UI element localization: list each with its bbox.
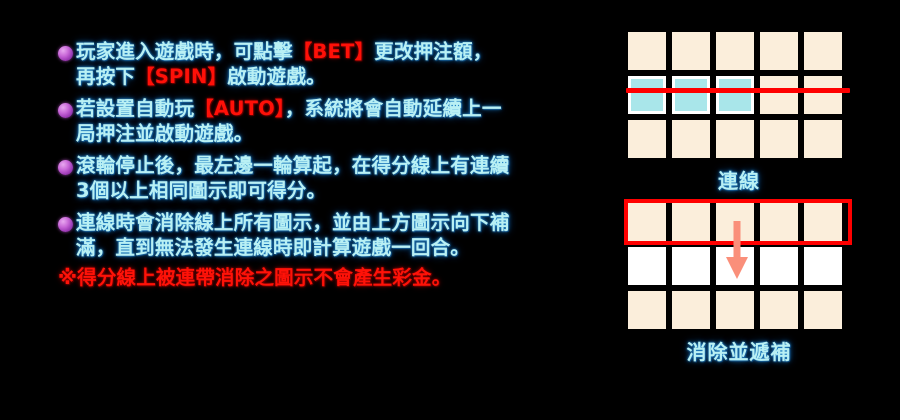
reel-cell-match (716, 76, 754, 114)
reel-cell-empty (804, 247, 842, 285)
rules-list: 玩家進入遊戲時，可點擊【BET】更改押注額， 再按下【SPIN】啟動遊戲。 若設… (58, 40, 618, 291)
sphere-bullet-icon (58, 46, 73, 61)
reel-cell (628, 291, 666, 329)
bet-token: 【BET】 (293, 40, 375, 63)
list-item: 玩家進入遊戲時，可點擊【BET】更改押注額， 再按下【SPIN】啟動遊戲。 (58, 40, 618, 90)
reel-cell (716, 291, 754, 329)
payline-red-line (626, 88, 850, 93)
sphere-bullet-icon (58, 160, 73, 175)
reel-cell (760, 76, 798, 114)
reel-cell-match (672, 76, 710, 114)
reel-cell (760, 32, 798, 70)
reel-cell (672, 291, 710, 329)
rule-text-4: 連線時會消除線上所有圖示，並由上方圖示向下補 滿，直到無法發生連線時即計算遊戲一… (76, 211, 618, 261)
reel-cell (760, 291, 798, 329)
reel-grid-line (628, 32, 850, 158)
reel-cell (628, 120, 666, 158)
sphere-bullet-icon (58, 103, 73, 118)
reel-cell-empty (716, 247, 754, 285)
diagram-line: 連線 (628, 32, 850, 194)
reel-cell (760, 120, 798, 158)
warning-note-text: ※得分線上被連帶消除之圖示不會產生彩金。 (58, 266, 618, 291)
reel-cell-empty (628, 247, 666, 285)
spin-token: 【SPIN】 (135, 65, 227, 88)
reel-cell-empty (672, 247, 710, 285)
reel-cell (804, 32, 842, 70)
reel-cell (628, 32, 666, 70)
reel-cell (804, 120, 842, 158)
reel-cell-empty (760, 247, 798, 285)
reel-grid-fill (628, 203, 850, 329)
reel-cell (672, 32, 710, 70)
list-item: 若設置自動玩【AUTO】，系統將會自動延續上一 局押注並啟動遊戲。 (58, 97, 618, 147)
diagram-fill: 消除並遞補 (628, 203, 850, 365)
warning-note: ※得分線上被連帶消除之圖示不會產生彩金。 (58, 266, 618, 291)
reel-cell (804, 76, 842, 114)
sphere-bullet-icon (58, 217, 73, 232)
diagram-line-label: 連線 (628, 165, 850, 194)
diagram-fill-label: 消除並遞補 (628, 336, 850, 365)
reel-cell (716, 120, 754, 158)
list-item: 連線時會消除線上所有圖示，並由上方圖示向下補 滿，直到無法發生連線時即計算遊戲一… (58, 211, 618, 261)
rule-text-3: 滾輪停止後，最左邊一輪算起，在得分線上有連續 3個以上相同圖示即可得分。 (76, 154, 618, 204)
rule-text-1: 玩家進入遊戲時，可點擊【BET】更改押注額， 再按下【SPIN】啟動遊戲。 (76, 40, 618, 90)
reel-cell (672, 120, 710, 158)
auto-token: 【AUTO】 (194, 97, 285, 120)
instructions-screen: 玩家進入遊戲時，可點擊【BET】更改押注額， 再按下【SPIN】啟動遊戲。 若設… (0, 0, 900, 420)
reel-cell (804, 291, 842, 329)
list-item: 滾輪停止後，最左邊一輪算起，在得分線上有連續 3個以上相同圖示即可得分。 (58, 154, 618, 204)
rule-text-2: 若設置自動玩【AUTO】，系統將會自動延續上一 局押注並啟動遊戲。 (76, 97, 618, 147)
reel-cell-match (628, 76, 666, 114)
reel-cell (716, 32, 754, 70)
cleared-row-highlight-box (624, 199, 852, 245)
